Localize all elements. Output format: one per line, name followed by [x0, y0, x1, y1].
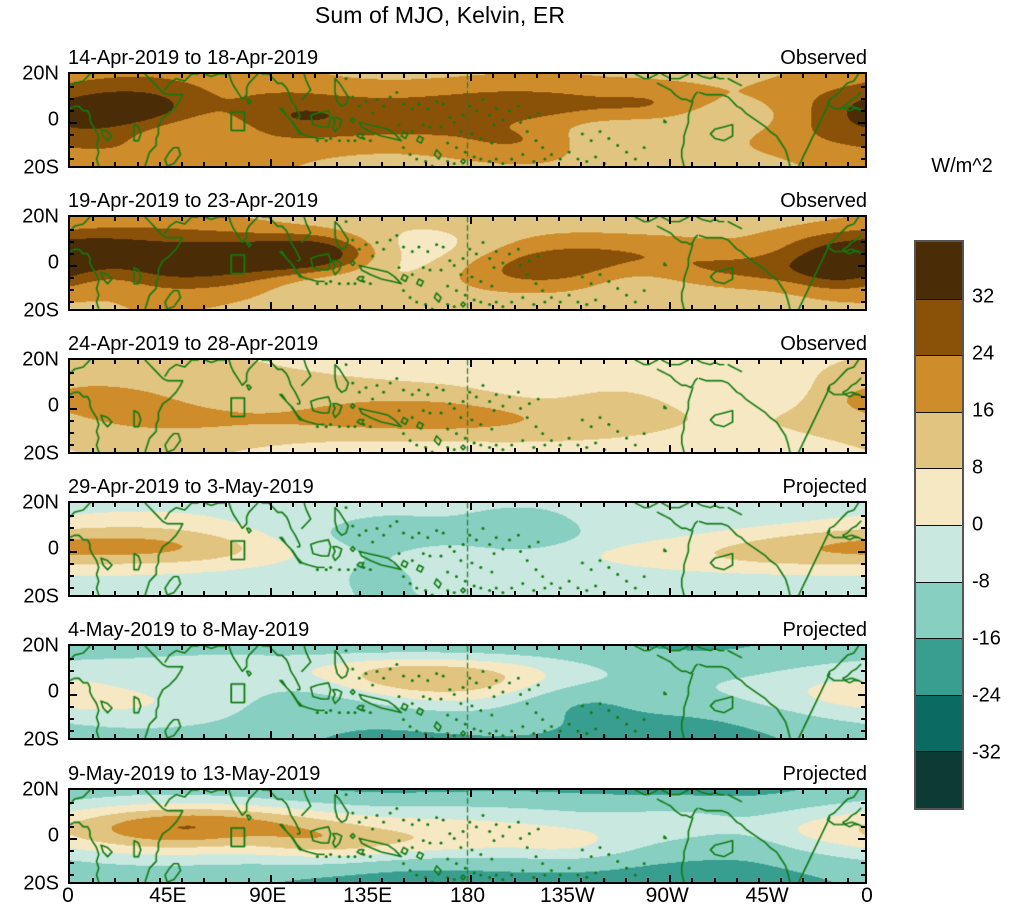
axis-tick — [647, 305, 649, 309]
axis-tick — [858, 408, 865, 410]
axis-tick — [137, 790, 139, 794]
axis-tick — [802, 360, 804, 364]
axis-tick — [114, 448, 116, 452]
axis-tick — [669, 360, 671, 367]
y-axis-label-20n: 20N — [22, 63, 59, 86]
axis-tick — [669, 445, 671, 452]
axis-tick — [248, 878, 250, 882]
map-plot-area — [68, 358, 867, 454]
axis-tick — [92, 360, 94, 364]
axis-tick — [159, 503, 161, 507]
axis-tick — [861, 515, 865, 517]
panel-title: 9-May-2019 to 13-May-2019 — [68, 763, 320, 786]
axis-tick — [536, 591, 538, 595]
panel-title: 24-Apr-2019 to 28-Apr-2019 — [68, 333, 318, 356]
x-axis-label-0: 0 — [861, 884, 873, 908]
panel-title: 14-Apr-2019 to 18-Apr-2019 — [68, 47, 318, 70]
axis-tick — [492, 74, 494, 78]
axis-tick — [248, 734, 250, 738]
axis-tick — [758, 74, 760, 78]
axis-tick — [847, 503, 849, 507]
axis-tick — [780, 360, 782, 364]
axis-tick — [70, 420, 74, 422]
axis-tick — [492, 217, 494, 221]
axis-tick — [70, 289, 74, 291]
axis-tick — [425, 878, 427, 882]
axis-tick — [758, 591, 760, 595]
axis-tick — [403, 448, 405, 452]
axis-tick — [114, 360, 116, 364]
axis-tick — [802, 734, 804, 738]
colorbar-band — [916, 412, 962, 469]
panel-title: 19-Apr-2019 to 23-Apr-2019 — [68, 190, 318, 213]
y-axis-label-20n: 20N — [22, 492, 59, 515]
axis-tick — [625, 878, 627, 882]
axis-tick — [536, 305, 538, 309]
axis-tick — [447, 305, 449, 309]
y-axis-label-20n: 20N — [22, 349, 59, 372]
axis-tick — [780, 448, 782, 452]
axis-tick — [514, 734, 516, 738]
axis-tick — [70, 110, 74, 112]
axis-tick — [861, 563, 865, 565]
axis-tick — [137, 448, 139, 452]
map-plot-area — [68, 644, 867, 740]
y-axis-label-0: 0 — [48, 825, 59, 848]
axis-tick — [70, 241, 74, 243]
x-axis-labels: 045E90E135E180135W90W45W0 — [68, 884, 867, 916]
axis-tick — [203, 162, 205, 166]
axis-tick — [625, 646, 627, 650]
axis-tick — [861, 575, 865, 577]
axis-tick — [625, 790, 627, 794]
axis-tick — [825, 591, 827, 595]
axis-tick — [359, 217, 361, 221]
axis-tick — [114, 591, 116, 595]
axis-tick — [514, 878, 516, 882]
axis-tick — [336, 878, 338, 882]
axis-tick — [691, 503, 693, 507]
y-axis-label-0: 0 — [48, 109, 59, 132]
colorbar-band — [916, 468, 962, 525]
axis-tick — [861, 229, 865, 231]
colorbar-tick-label: -32 — [972, 742, 1001, 765]
axis-tick — [691, 591, 693, 595]
axis-tick — [758, 360, 760, 364]
axis-tick — [758, 305, 760, 309]
axis-tick — [492, 448, 494, 452]
axis-tick — [248, 217, 250, 221]
colorbar-band — [916, 582, 962, 639]
axis-tick — [70, 301, 74, 303]
axis-tick — [137, 305, 139, 309]
climate-figure: Sum of MJO, Kelvin, ER 045E90E135E180135… — [0, 0, 1021, 922]
axis-tick — [514, 162, 516, 166]
axis-tick — [70, 372, 74, 374]
axis-tick — [314, 74, 316, 78]
axis-tick — [336, 162, 338, 166]
axis-tick — [758, 162, 760, 166]
axis-tick — [314, 360, 316, 364]
axis-tick — [758, 448, 760, 452]
axis-tick — [137, 591, 139, 595]
y-axis-label-20s: 20S — [23, 443, 59, 466]
axis-tick — [736, 305, 738, 309]
axis-tick — [359, 790, 361, 794]
axis-tick — [714, 790, 716, 794]
axis-tick — [225, 360, 227, 364]
axis-tick — [70, 587, 74, 589]
axis-tick — [647, 503, 649, 507]
axis-tick — [270, 646, 272, 653]
axis-tick — [647, 217, 649, 221]
axis-tick — [603, 305, 605, 309]
colorbar-band — [916, 242, 962, 299]
axis-tick — [780, 217, 782, 221]
map-plot-area — [68, 501, 867, 597]
axis-tick — [403, 74, 405, 78]
axis-tick — [492, 162, 494, 166]
axis-tick — [669, 302, 671, 309]
axis-tick — [780, 162, 782, 166]
axis-tick — [314, 162, 316, 166]
axis-tick — [492, 734, 494, 738]
axis-tick — [70, 396, 74, 398]
axis-tick — [825, 646, 827, 650]
axis-tick — [861, 874, 865, 876]
axis-tick — [603, 360, 605, 364]
axis-tick — [647, 74, 649, 78]
axis-tick — [558, 790, 560, 794]
axis-tick — [861, 587, 865, 589]
axis-tick — [861, 420, 865, 422]
axis-tick — [70, 158, 74, 160]
y-axis-label-20n: 20N — [22, 206, 59, 229]
axis-tick — [70, 444, 74, 446]
axis-tick — [181, 591, 183, 595]
axis-tick — [861, 730, 865, 732]
axis-tick — [203, 878, 205, 882]
axis-tick — [359, 305, 361, 309]
axis-tick — [70, 98, 74, 100]
y-axis-label-20n: 20N — [22, 635, 59, 658]
axis-tick — [70, 122, 77, 124]
axis-tick — [669, 503, 671, 510]
axis-tick — [802, 217, 804, 221]
panel-title: 29-Apr-2019 to 3-May-2019 — [68, 476, 314, 499]
axis-tick — [225, 646, 227, 650]
axis-tick — [603, 734, 605, 738]
axis-tick — [514, 74, 516, 78]
axis-tick — [603, 162, 605, 166]
colorbar-tick-label: 16 — [972, 400, 994, 423]
axis-tick — [336, 448, 338, 452]
axis-tick — [780, 591, 782, 595]
axis-tick — [181, 646, 183, 650]
axis-tick — [736, 74, 738, 78]
axis-tick — [691, 305, 693, 309]
axis-tick — [861, 527, 865, 529]
axis-tick — [292, 305, 294, 309]
axis-tick — [403, 790, 405, 794]
axis-tick — [292, 360, 294, 364]
axis-tick — [625, 591, 627, 595]
axis-tick — [292, 74, 294, 78]
axis-tick — [861, 289, 865, 291]
axis-tick — [825, 503, 827, 507]
axis-tick — [802, 503, 804, 507]
axis-tick — [137, 734, 139, 738]
axis-tick — [669, 646, 671, 653]
axis-tick — [359, 360, 361, 364]
axis-tick — [225, 734, 227, 738]
axis-tick — [225, 217, 227, 221]
axis-tick — [336, 305, 338, 309]
axis-tick — [114, 878, 116, 882]
axis-tick — [802, 74, 804, 78]
axis-tick — [580, 503, 582, 507]
axis-tick — [70, 874, 74, 876]
axis-tick — [558, 162, 560, 166]
axis-tick — [861, 372, 865, 374]
axis-tick — [861, 862, 865, 864]
axis-tick — [825, 217, 827, 221]
axis-tick — [70, 253, 74, 255]
axis-tick — [861, 86, 865, 88]
x-axis-label-45w: 45W — [746, 884, 789, 908]
x-axis-label-135w: 135W — [540, 884, 595, 908]
axis-tick — [647, 734, 649, 738]
axis-tick — [736, 591, 738, 595]
axis-tick — [470, 588, 472, 595]
axis-tick — [381, 734, 383, 738]
axis-tick — [137, 162, 139, 166]
axis-tick — [780, 790, 782, 794]
axis-tick — [647, 878, 649, 882]
axis-tick — [425, 305, 427, 309]
axis-tick — [714, 360, 716, 364]
axis-tick — [861, 670, 865, 672]
axis-tick — [270, 302, 272, 309]
panel-status-badge: Observed — [780, 190, 867, 213]
axis-tick — [669, 588, 671, 595]
axis-tick — [736, 878, 738, 882]
axis-tick — [736, 360, 738, 364]
axis-tick — [203, 448, 205, 452]
axis-tick — [92, 591, 94, 595]
axis-tick — [70, 515, 74, 517]
axis-tick — [858, 265, 865, 267]
axis-tick — [736, 734, 738, 738]
axis-tick — [336, 360, 338, 364]
axis-tick — [861, 384, 865, 386]
axis-tick — [847, 790, 849, 794]
axis-tick — [558, 591, 560, 595]
axis-tick — [292, 162, 294, 166]
axis-tick — [114, 217, 116, 221]
axis-tick — [580, 646, 582, 650]
axis-tick — [847, 646, 849, 650]
axis-tick — [580, 734, 582, 738]
axis-tick — [137, 646, 139, 650]
axis-tick — [714, 878, 716, 882]
axis-tick — [861, 98, 865, 100]
x-axis-label-90w: 90W — [646, 884, 689, 908]
axis-tick — [758, 790, 760, 794]
axis-tick — [403, 162, 405, 166]
axis-tick — [248, 305, 250, 309]
axis-tick — [861, 850, 865, 852]
axis-tick — [381, 162, 383, 166]
axis-tick — [470, 503, 472, 510]
axis-tick — [825, 162, 827, 166]
axis-tick — [447, 646, 449, 650]
colorbar-band — [916, 299, 962, 356]
axis-tick — [70, 551, 77, 553]
axis-tick — [847, 305, 849, 309]
axis-tick — [470, 731, 472, 738]
axis-tick — [514, 217, 516, 221]
axis-tick — [736, 646, 738, 650]
axis-tick — [447, 217, 449, 221]
axis-tick — [780, 734, 782, 738]
axis-tick — [647, 448, 649, 452]
axis-tick — [625, 734, 627, 738]
axis-tick — [381, 503, 383, 507]
axis-tick — [669, 790, 671, 797]
axis-tick — [425, 74, 427, 78]
axis-tick — [70, 432, 74, 434]
axis-tick — [425, 591, 427, 595]
axis-tick — [159, 305, 161, 309]
axis-tick — [691, 360, 693, 364]
axis-tick — [92, 305, 94, 309]
axis-tick — [314, 646, 316, 650]
axis-tick — [292, 217, 294, 221]
axis-tick — [92, 74, 94, 78]
axis-tick — [381, 448, 383, 452]
axis-tick — [403, 878, 405, 882]
axis-tick — [92, 162, 94, 166]
axis-tick — [225, 305, 227, 309]
contour-map — [70, 217, 865, 309]
axis-tick — [858, 838, 865, 840]
axis-tick — [181, 790, 183, 794]
axis-tick — [225, 790, 227, 794]
panel-status-badge: Projected — [783, 619, 868, 642]
panel-6: 9-May-2019 to 13-May-2019Projected20N020… — [68, 788, 867, 884]
axis-tick — [647, 591, 649, 595]
axis-tick — [861, 444, 865, 446]
axis-tick — [780, 646, 782, 650]
axis-tick — [714, 503, 716, 507]
colorbar-tick-label: -8 — [972, 571, 990, 594]
axis-tick — [514, 503, 516, 507]
axis-tick — [314, 790, 316, 794]
axis-tick — [603, 646, 605, 650]
colorbar-tick-label: 0 — [972, 514, 983, 537]
panel-5: 4-May-2019 to 8-May-2019Projected20N020S — [68, 644, 867, 740]
axis-tick — [536, 162, 538, 166]
axis-tick — [114, 162, 116, 166]
axis-tick — [669, 875, 671, 882]
axis-tick — [861, 432, 865, 434]
axis-tick — [647, 360, 649, 364]
axis-tick — [270, 731, 272, 738]
axis-tick — [92, 217, 94, 221]
axis-tick — [314, 448, 316, 452]
axis-tick — [203, 360, 205, 364]
axis-tick — [861, 682, 865, 684]
axis-tick — [181, 360, 183, 364]
axis-tick — [514, 448, 516, 452]
axis-tick — [847, 591, 849, 595]
axis-tick — [114, 734, 116, 738]
axis-tick — [92, 734, 94, 738]
x-axis-label-135e: 135E — [343, 884, 392, 908]
axis-tick — [691, 74, 693, 78]
axis-tick — [736, 448, 738, 452]
axis-tick — [114, 74, 116, 78]
colorbar — [914, 240, 964, 810]
axis-tick — [70, 265, 77, 267]
axis-tick — [492, 305, 494, 309]
x-axis-label-45e: 45E — [149, 884, 186, 908]
colorbar-band — [916, 695, 962, 752]
axis-tick — [625, 360, 627, 364]
axis-tick — [625, 74, 627, 78]
axis-tick — [847, 74, 849, 78]
axis-tick — [492, 591, 494, 595]
y-axis-label-20s: 20S — [23, 873, 59, 896]
axis-tick — [92, 503, 94, 507]
axis-tick — [470, 790, 472, 797]
axis-tick — [558, 305, 560, 309]
axis-tick — [203, 790, 205, 794]
axis-tick — [514, 790, 516, 794]
axis-tick — [70, 706, 74, 708]
axis-tick — [861, 158, 865, 160]
axis-tick — [336, 217, 338, 221]
axis-tick — [691, 162, 693, 166]
axis-tick — [159, 591, 161, 595]
axis-tick — [669, 159, 671, 166]
axis-tick — [314, 503, 316, 507]
axis-tick — [203, 305, 205, 309]
axis-tick — [70, 838, 77, 840]
axis-tick — [625, 503, 627, 507]
axis-tick — [70, 408, 77, 410]
axis-tick — [159, 734, 161, 738]
axis-tick — [292, 503, 294, 507]
axis-tick — [825, 448, 827, 452]
axis-tick — [861, 134, 865, 136]
axis-tick — [159, 217, 161, 221]
axis-tick — [470, 74, 472, 81]
axis-tick — [825, 878, 827, 882]
y-axis-label-0: 0 — [48, 538, 59, 561]
axis-tick — [625, 162, 627, 166]
colorbar-tick-label: 32 — [972, 286, 994, 309]
axis-tick — [159, 878, 161, 882]
axis-tick — [292, 646, 294, 650]
axis-tick — [403, 503, 405, 507]
axis-tick — [603, 217, 605, 221]
axis-tick — [847, 878, 849, 882]
axis-tick — [861, 253, 865, 255]
axis-tick — [580, 591, 582, 595]
axis-tick — [861, 706, 865, 708]
